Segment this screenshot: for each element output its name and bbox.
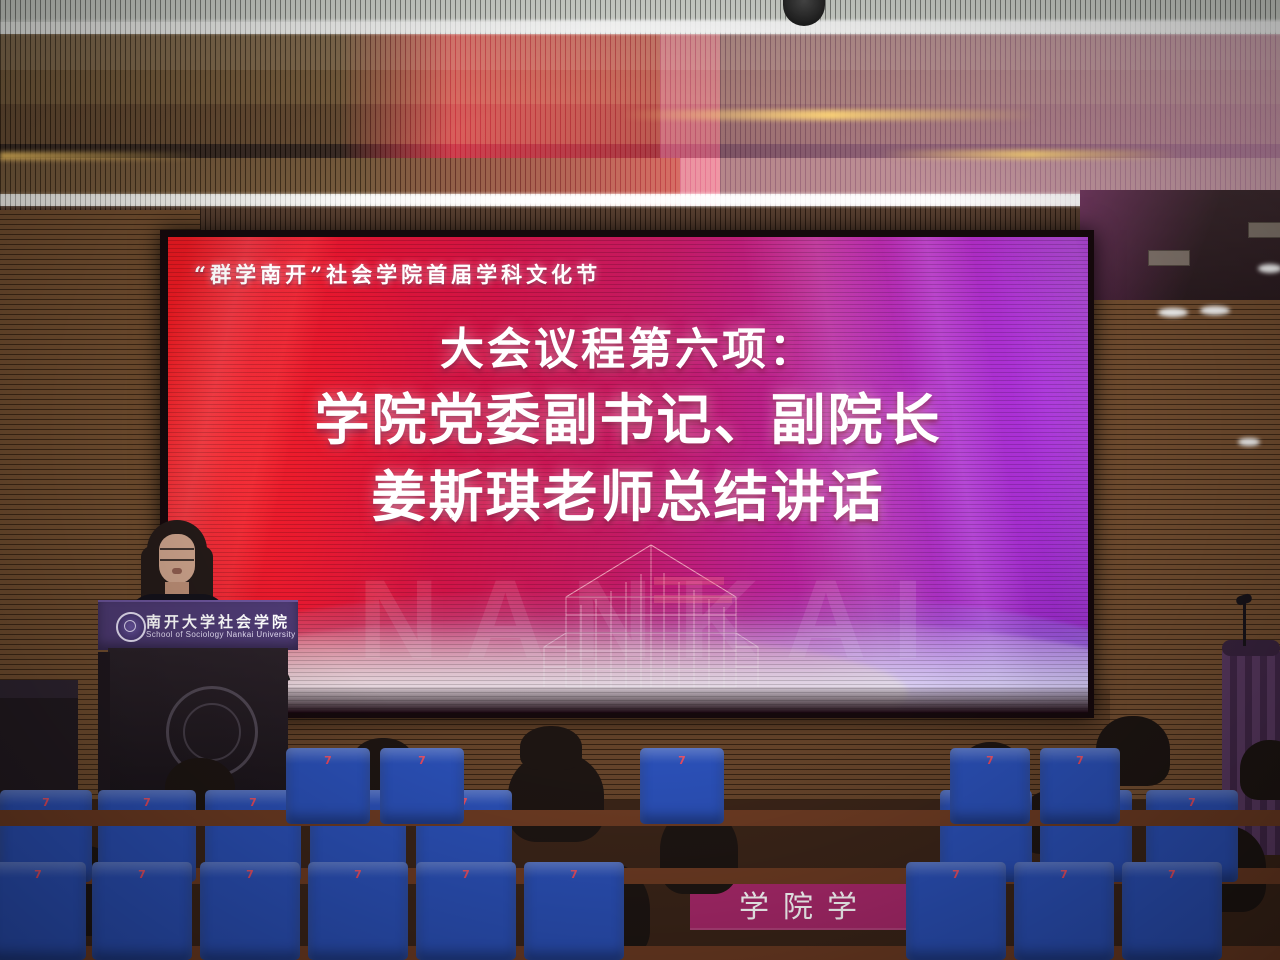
ceiling-downlight bbox=[1200, 306, 1230, 315]
auditorium-seat[interactable]: 7 bbox=[524, 862, 624, 960]
auditorium-photo: NANKAI “群学南开”社会学院首届学科文化节 bbox=[0, 0, 1280, 960]
ceiling-downlight bbox=[1258, 264, 1280, 273]
seat-number: 7 bbox=[1060, 868, 1068, 881]
ceiling-downlight bbox=[1238, 438, 1260, 446]
nankai-logo-icon bbox=[116, 612, 146, 642]
screen-title-line-3: 姜斯琪老师总结讲话 bbox=[168, 458, 1088, 535]
auditorium-seat[interactable]: 7 bbox=[1014, 862, 1114, 960]
auditorium-seat[interactable]: 7 bbox=[950, 748, 1030, 824]
seat-number: 7 bbox=[138, 868, 146, 881]
screen-header-text: “群学南开”社会学院首届学科文化节 bbox=[194, 259, 601, 289]
auditorium-seat[interactable]: 7 bbox=[1122, 862, 1222, 960]
stage-side-table bbox=[0, 680, 78, 800]
screen-title-line-1: 大会议程第六项： bbox=[168, 319, 1088, 381]
podium-sign-chinese: 南开大学社会学院 bbox=[146, 611, 290, 632]
soffit-pink-wash bbox=[1080, 190, 1280, 300]
seat-number: 7 bbox=[462, 868, 470, 881]
air-vent bbox=[1148, 250, 1190, 266]
seat-number: 7 bbox=[34, 868, 42, 881]
auditorium-seat[interactable]: 7 bbox=[0, 862, 86, 960]
seat-number: 7 bbox=[354, 868, 362, 881]
ceiling-light-strip bbox=[0, 152, 200, 160]
seat-number: 7 bbox=[143, 796, 151, 809]
auditorium-seat[interactable]: 7 bbox=[286, 748, 370, 824]
seat-number: 7 bbox=[678, 754, 686, 767]
audience-member bbox=[520, 726, 582, 770]
audience-member bbox=[1240, 740, 1280, 800]
podium-sign-english: School of Sociology Nankai University bbox=[146, 630, 296, 639]
speaker-mouth bbox=[172, 568, 182, 574]
auditorium-seat[interactable]: 7 bbox=[200, 862, 300, 960]
seat-number: 7 bbox=[986, 754, 994, 767]
seat-number: 7 bbox=[1188, 796, 1196, 809]
seat-number: 7 bbox=[952, 868, 960, 881]
auditorium-seat[interactable]: 7 bbox=[640, 748, 724, 824]
microphone-stand bbox=[1243, 600, 1246, 646]
glasses-icon bbox=[160, 548, 194, 561]
auditorium-seat[interactable]: 7 bbox=[1040, 748, 1120, 824]
seat-number: 7 bbox=[1168, 868, 1176, 881]
auditorium-seat[interactable]: 7 bbox=[92, 862, 192, 960]
ceiling-downlight bbox=[1158, 308, 1188, 317]
seat-number: 7 bbox=[324, 754, 332, 767]
ceiling-light-strip bbox=[880, 150, 1180, 159]
ceiling-light-strip bbox=[0, 20, 1280, 34]
air-vent bbox=[1248, 222, 1280, 238]
screen-title-line-2: 学院党委副书记、副院长 bbox=[168, 381, 1088, 458]
auditorium-seat[interactable]: 7 bbox=[906, 862, 1006, 960]
led-screen[interactable]: NANKAI “群学南开”社会学院首届学科文化节 bbox=[168, 237, 1088, 713]
seat-number: 7 bbox=[246, 868, 254, 881]
auditorium-seat[interactable]: 7 bbox=[380, 748, 464, 824]
seat-number: 7 bbox=[1076, 754, 1084, 767]
seat-number: 7 bbox=[418, 754, 426, 767]
screen-title-block: 大会议程第六项： 学院党委副书记、副院长 姜斯琪老师总结讲话 bbox=[168, 319, 1088, 535]
auditorium-seat[interactable]: 7 bbox=[416, 862, 516, 960]
seat-number: 7 bbox=[42, 796, 50, 809]
stage-curtain-top bbox=[1222, 640, 1280, 656]
podium-sign-plate: 南开大学社会学院 School of Sociology Nankai Univ… bbox=[98, 600, 298, 650]
seat-number: 7 bbox=[249, 796, 257, 809]
auditorium-seat[interactable]: 7 bbox=[308, 862, 408, 960]
seat-number: 7 bbox=[570, 868, 578, 881]
ceiling-light-strip bbox=[620, 110, 1040, 120]
